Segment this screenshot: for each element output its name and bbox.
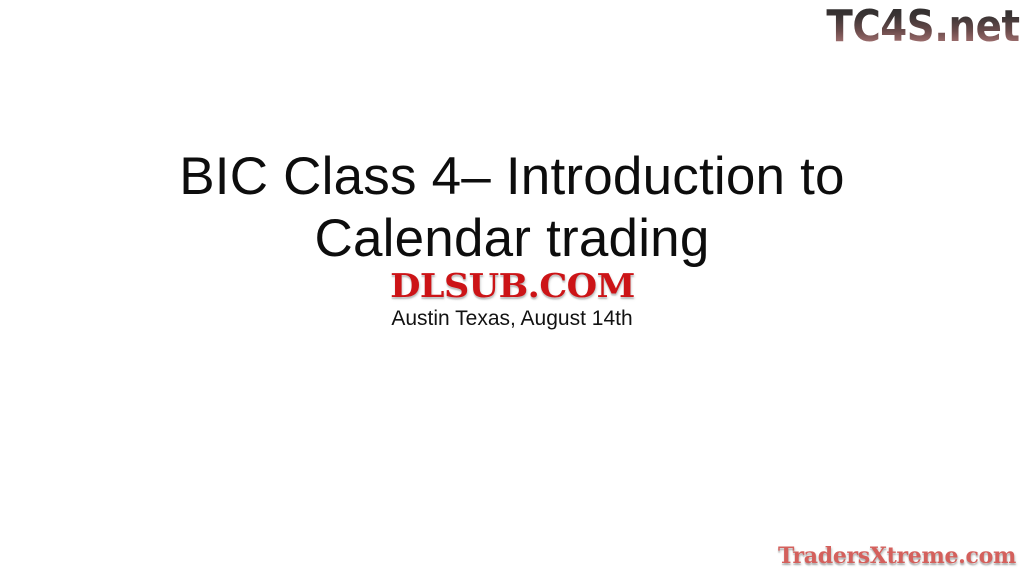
slide-title-line-1: BIC Class 4– Introduction to	[62, 146, 962, 208]
tradersxtreme-watermark-logo: TradersXtreme.com	[778, 542, 1016, 570]
tc4s-watermark-logo: TC4S.net	[827, 2, 1020, 52]
slide-title: BIC Class 4– Introduction to Calendar tr…	[62, 146, 962, 270]
presentation-slide: TC4S.net BIC Class 4– Introduction to Ca…	[0, 0, 1024, 576]
dlsub-watermark: DLSUB.COM	[0, 268, 1024, 304]
slide-subtitle: Austin Texas, August 14th	[62, 306, 962, 332]
slide-title-line-2: Calendar trading	[62, 208, 962, 270]
dlsub-watermark-text: DLSUB.COM	[390, 268, 635, 304]
